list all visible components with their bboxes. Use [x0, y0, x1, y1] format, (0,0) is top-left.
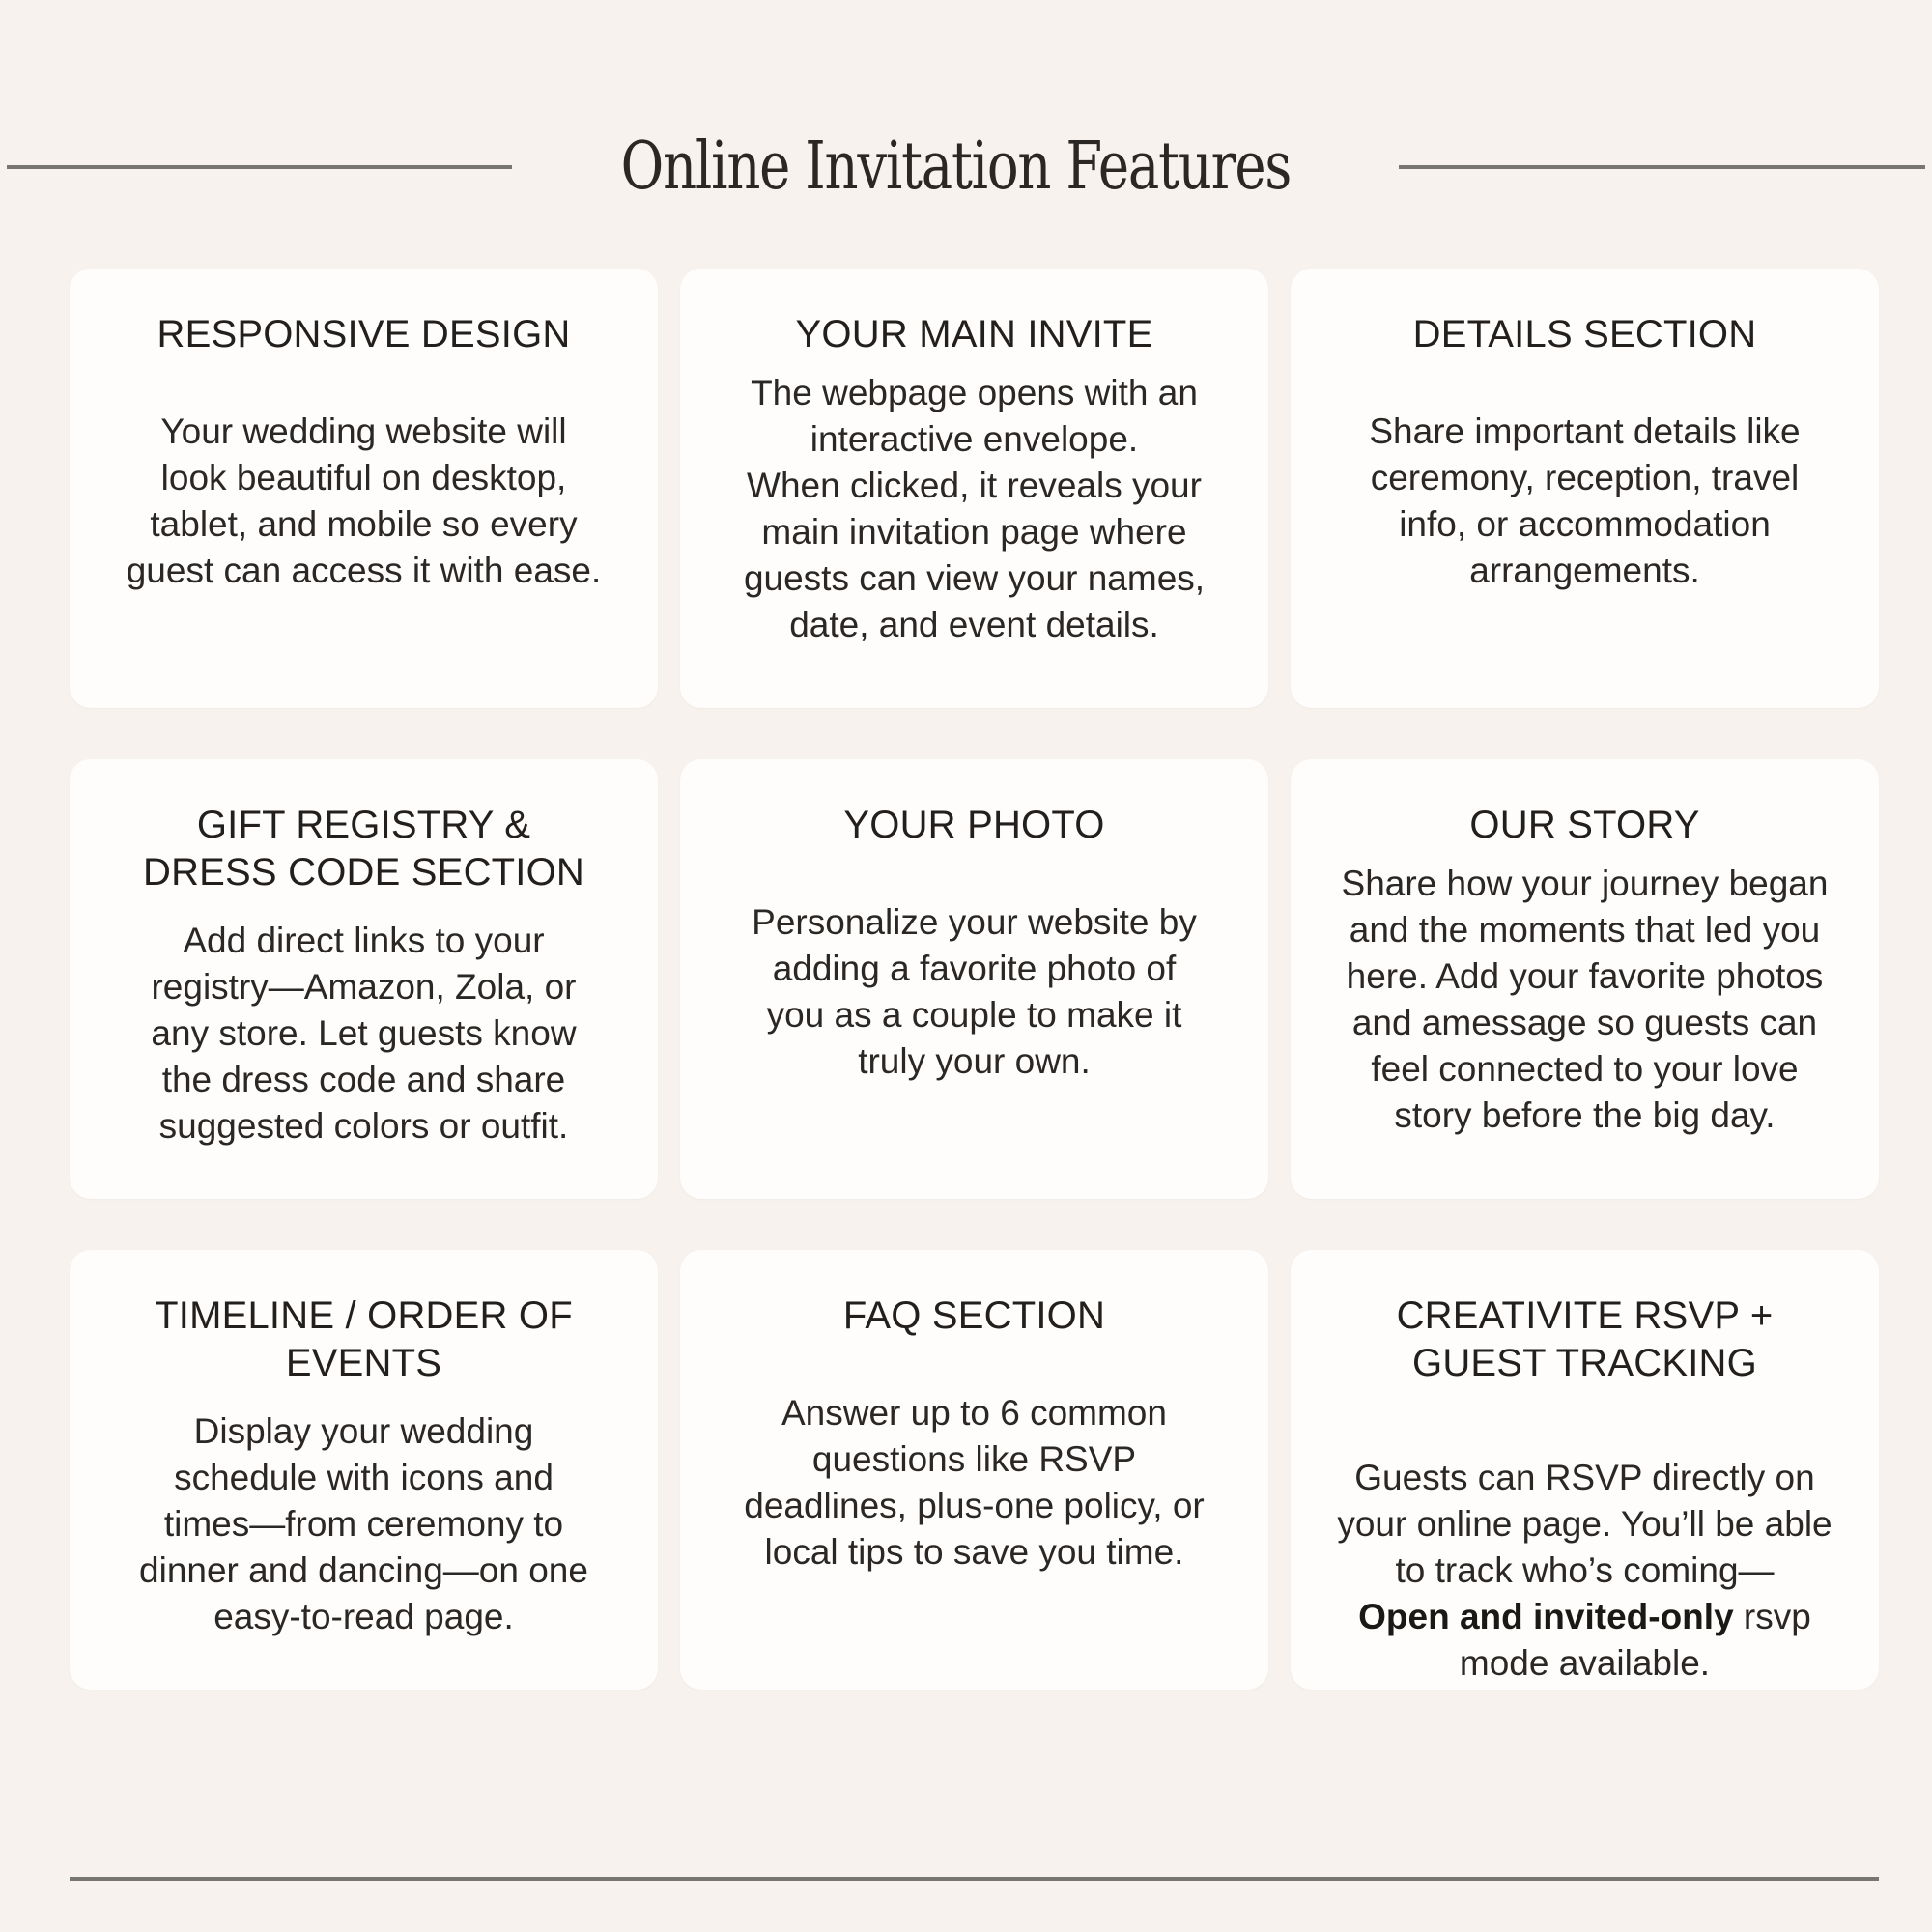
card-title: GIFT REGISTRY & DRESS CODE SECTION	[143, 802, 584, 896]
online-invitation-features-page: Online Invitation Features RESPONSIVE DE…	[0, 0, 1932, 1932]
card-body: Personalize your website by adding a fav…	[752, 899, 1197, 1085]
card-body: Share important details like ceremony, r…	[1369, 409, 1800, 594]
feature-card-grid: RESPONSIVE DESIGN Your wedding website w…	[70, 269, 1879, 1690]
feature-card-faq-section: FAQ SECTION Answer up to 6 common questi…	[680, 1250, 1268, 1690]
card-body-emphasis: Open and invited-only	[1358, 1597, 1734, 1636]
card-body: Display your wedding schedule with icons…	[139, 1408, 588, 1640]
header-rule-left	[7, 165, 512, 169]
card-body: Share how your journey began and the mom…	[1342, 861, 1829, 1140]
card-body-rich: Guests can RSVP directly on your online …	[1337, 1408, 1832, 1688]
footer-rule	[70, 1877, 1879, 1881]
page-title: Online Invitation Features	[620, 134, 1290, 200]
card-body: Add direct links to your registry—Amazon…	[151, 918, 576, 1150]
card-body: The webpage opens with an interactive en…	[744, 370, 1205, 649]
card-body-lead: Guests can RSVP directly on your online …	[1337, 1458, 1832, 1590]
feature-card-gift-registry-dress-code: GIFT REGISTRY & DRESS CODE SECTION Add d…	[70, 759, 658, 1199]
feature-card-creativite-rsvp-guest-tracking: CREATIVITE RSVP + GUEST TRACKING Guests …	[1291, 1250, 1879, 1690]
page-header: Online Invitation Features	[0, 114, 1932, 220]
card-body: Answer up to 6 common questions like RSV…	[744, 1390, 1204, 1576]
header-rule-right	[1399, 165, 1925, 169]
card-title: DETAILS SECTION	[1413, 311, 1757, 358]
feature-card-our-story: OUR STORY Share how your journey began a…	[1291, 759, 1879, 1199]
card-title: TIMELINE / ORDER OF EVENTS	[155, 1293, 573, 1387]
feature-card-responsive-design: RESPONSIVE DESIGN Your wedding website w…	[70, 269, 658, 708]
feature-card-your-main-invite: YOUR MAIN INVITE The webpage opens with …	[680, 269, 1268, 708]
card-title: YOUR MAIN INVITE	[796, 311, 1153, 358]
card-title: OUR STORY	[1469, 802, 1699, 849]
feature-card-timeline-order-of-events: TIMELINE / ORDER OF EVENTS Display your …	[70, 1250, 658, 1690]
card-title: CREATIVITE RSVP + GUEST TRACKING	[1397, 1293, 1774, 1387]
feature-card-your-photo: YOUR PHOTO Personalize your website by a…	[680, 759, 1268, 1199]
feature-card-details-section: DETAILS SECTION Share important details …	[1291, 269, 1879, 708]
card-body: Your wedding website will look beautiful…	[127, 409, 602, 594]
card-title: FAQ SECTION	[843, 1293, 1105, 1340]
card-title: YOUR PHOTO	[843, 802, 1104, 849]
card-title: RESPONSIVE DESIGN	[157, 311, 571, 358]
